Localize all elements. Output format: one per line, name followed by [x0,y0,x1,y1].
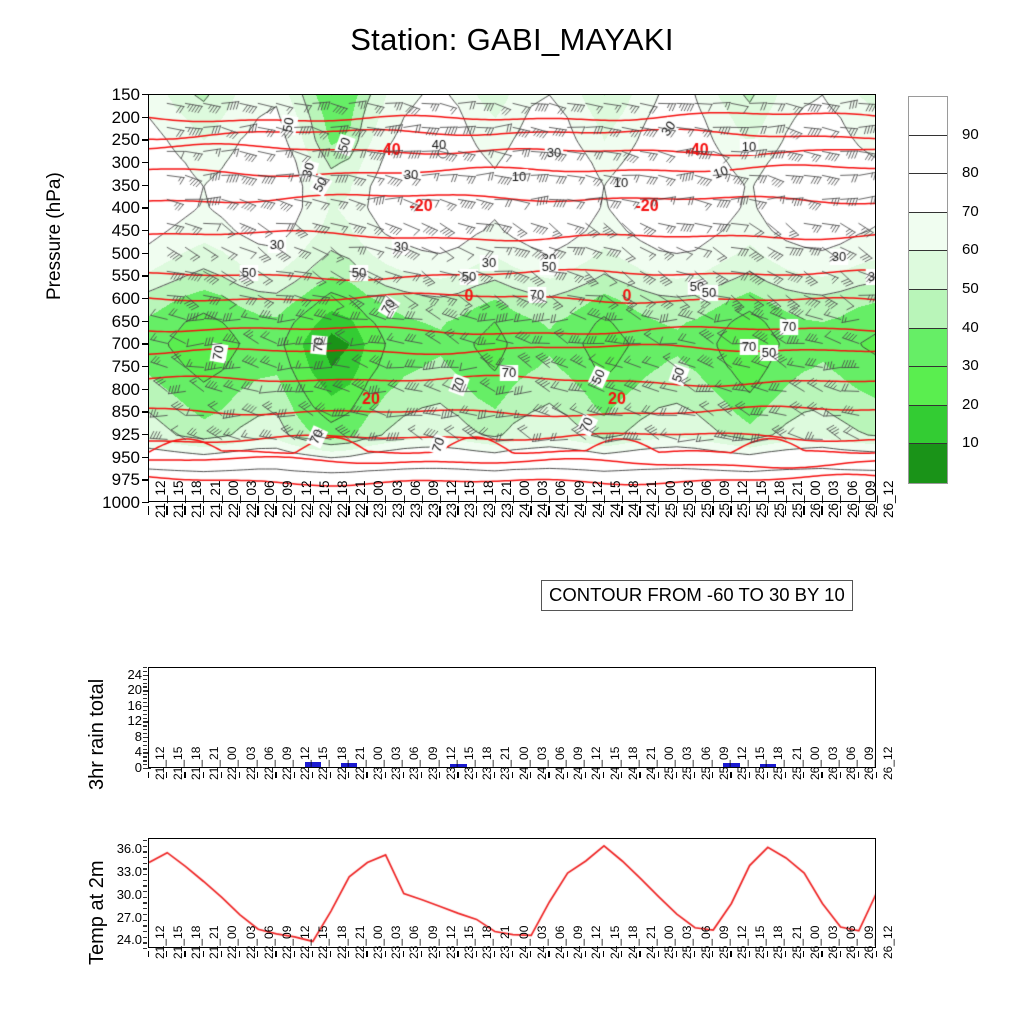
rain-time-label-23_06: 23_06 [407,747,421,780]
temp-time-label-22_21: 22_21 [353,926,367,959]
rain-tick-24: 24 [104,668,142,681]
contour-note: CONTOUR FROM -60 TO 30 BY 10 [541,580,853,611]
colorbar-label-60: 60 [962,242,979,257]
temp-time-label-22_00: 22_00 [225,926,239,959]
time-tickmark [730,506,731,515]
rain-minor-tickmark [143,760,147,761]
temp-time-tickmark [348,951,349,957]
time-tickmark [767,506,768,515]
rain-time-label-22_15: 22_15 [316,747,330,780]
rain-minor-tickmark [143,686,147,687]
temp-time-label-22_15: 22_15 [316,926,330,959]
pressure-tick-labels: 1502002503003504004505005506006507007508… [78,94,140,502]
rain-time-label-22_09: 22_09 [280,747,294,780]
temp-time-tickmark [275,951,276,957]
rain-time-tickmark [221,772,222,778]
time-tickmark [876,506,877,515]
rain-time-label-23_21: 23_21 [498,747,512,780]
temp-time-label-24_09: 24_09 [571,926,585,959]
time-tickmark [621,506,622,515]
rain-tick-8: 8 [104,730,142,743]
time-tickmark [330,506,331,515]
temp-time-axis: 21_1221_1521_1821_2122_0022_0322_0622_09… [148,951,876,1011]
temp-time-tickmark [821,951,822,957]
temp-time-tickmark [658,951,659,957]
temp-tickmark [143,902,147,903]
rain-time-tickmark [403,772,404,778]
temp-time-tickmark [148,951,149,957]
rain-time-label-21_18: 21_18 [189,747,203,780]
rain-minor-tickmark [143,749,147,750]
time-tickmark [603,506,604,515]
temp-time-tickmark [439,951,440,957]
temp-time-label-26_09: 26_09 [862,926,876,959]
rain-time-tickmark [184,772,185,778]
pressure-tick-200: 200 [80,109,140,126]
temp-time-tickmark [858,951,859,957]
rain-time-tickmark [767,772,768,778]
temp-tickmark [143,925,147,926]
temp-tickmark [143,857,147,858]
temp-time-tickmark [676,951,677,957]
pressure-tick-650: 650 [80,313,140,330]
temp-time-tickmark [330,951,331,957]
rain-time-tickmark [639,772,640,778]
temp-time-tickmark [166,951,167,957]
time-tickmark [421,506,422,515]
rain-time-tickmark [730,772,731,778]
temp-time-label-24_12: 24_12 [589,926,603,959]
temp-time-tickmark [840,951,841,957]
rain-minor-tickmark [143,671,147,672]
temp-tickmark [143,851,147,852]
pressure-tick-600: 600 [80,290,140,307]
rain-tick-0: 0 [104,761,142,774]
temp-time-tickmark [366,951,367,957]
temp-time-tickmark [203,951,204,957]
temp-tickmark [143,942,147,943]
temp-tickmark [143,920,147,921]
temp-time-label-25_18: 25_18 [771,926,785,959]
temp-time-label-21_15: 21_15 [171,926,185,959]
time-tickmark [585,506,586,515]
temp-time-tickmark [639,951,640,957]
rain-time-tickmark [821,772,822,778]
rain-time-tickmark [366,772,367,778]
temp-time-tickmark [457,951,458,957]
temp-time-label-22_06: 22_06 [262,926,276,959]
temp-time-label-25_12: 25_12 [735,926,749,959]
rain-time-tickmark [803,772,804,778]
rain-time-label-26_12: 26_12 [881,747,895,780]
temp-time-label-25_03: 25_03 [680,926,694,959]
temp-tickmark [143,840,147,841]
rain-time-label-21_15: 21_15 [171,747,185,780]
rain-time-tickmark [603,772,604,778]
temp-time-tickmark [749,951,750,957]
rain-time-label-26_06: 26_06 [844,747,858,780]
rain-time-tickmark [275,772,276,778]
colorbar-band-9 [909,444,947,483]
temp-time-tickmark [803,951,804,957]
time-tickmark [676,506,677,515]
time-tickmark [403,506,404,515]
rain-time-label-26_00: 26_00 [808,747,822,780]
time-tickmark [694,506,695,515]
rain-time-tickmark [166,772,167,778]
rain-time-label-24_09: 24_09 [571,747,585,780]
temp-time-label-24_15: 24_15 [608,926,622,959]
temp-tick-36.0: 36.0 [98,842,142,855]
colorbar-band-1 [909,136,947,175]
colorbar-label-30: 30 [962,358,979,373]
temp-time-label-23_21: 23_21 [498,926,512,959]
temp-time-tickmark [767,951,768,957]
temp-time-label-21_12: 21_12 [153,926,167,959]
rain-tick-20: 20 [104,683,142,696]
temp-time-label-24_00: 24_00 [517,926,531,959]
rain-time-label-23_18: 23_18 [480,747,494,780]
rain-time-label-21_21: 21_21 [207,747,221,780]
temp-tickmark [143,880,147,881]
rain-time-label-22_06: 22_06 [262,747,276,780]
temp-time-label-26_00: 26_00 [808,926,822,959]
temp-time-tickmark [876,951,877,957]
rain-time-label-26_03: 26_03 [826,747,840,780]
rain-tick-labels: 24201612840 [104,660,142,775]
pressure-tick-500: 500 [80,245,140,262]
temp-tick-30.0: 30.0 [98,888,142,901]
temp-time-tickmark [621,951,622,957]
rain-time-tickmark [548,772,549,778]
temp-time-tickmark [494,951,495,957]
time-tickmark [658,506,659,515]
temp-time-label-26_03: 26_03 [826,926,840,959]
temp-time-label-25_09: 25_09 [717,926,731,959]
rain-time-label-25_09: 25_09 [717,747,731,780]
rain-minor-tickmark [143,694,147,695]
temp-tickmark [143,914,147,915]
rain-time-label-25_15: 25_15 [753,747,767,780]
temp-time-tickmark [603,951,604,957]
time-tickmark [166,506,167,515]
rain-minor-tickmark [143,718,147,719]
temp-time-label-23_00: 23_00 [371,926,385,959]
rain-time-tickmark [712,772,713,778]
time-tickmark [457,506,458,515]
temp-time-tickmark [239,951,240,957]
temp-time-label-25_00: 25_00 [662,926,676,959]
temp-tickmark [143,937,147,938]
rain-minor-tickmark [143,679,147,680]
temp-time-tickmark [548,951,549,957]
temp-time-label-23_06: 23_06 [407,926,421,959]
temp-tickmark [143,863,147,864]
time-tickmark [294,506,295,515]
temp-time-tickmark [712,951,713,957]
pressure-tick-350: 350 [80,177,140,194]
time-tickmark [821,506,822,515]
colorbar-label-10: 10 [962,435,979,450]
temp-time-label-25_21: 25_21 [790,926,804,959]
rain-time-label-24_03: 24_03 [535,747,549,780]
rain-time-tickmark [676,772,677,778]
rain-time-label-23_15: 23_15 [462,747,476,780]
time-label-26_12: 26_12 [881,480,896,518]
temp-time-label-24_21: 24_21 [644,926,658,959]
rain-time-label-25_00: 25_00 [662,747,676,780]
rain-time-tickmark [858,772,859,778]
rain-time-tickmark [476,772,477,778]
temp-time-tickmark [785,951,786,957]
rain-time-tickmark [203,772,204,778]
page-title: Station: GABI_MAYAKI [0,22,1024,58]
time-tickmark [512,506,513,515]
colorbar-label-40: 40 [962,320,979,335]
temp-time-label-22_12: 22_12 [298,926,312,959]
temp-tickmark [143,874,147,875]
colorbar-band-8 [909,406,947,445]
rain-time-tickmark [494,772,495,778]
pressure-tick-950: 950 [80,449,140,466]
rain-time-tickmark [421,772,422,778]
temp-time-tickmark [730,951,731,957]
time-tickmark [148,506,149,515]
temp-time-tickmark [184,951,185,957]
temp-time-tickmark [585,951,586,957]
time-tickmark [639,506,640,515]
rain-time-label-24_18: 24_18 [626,747,640,780]
time-tickmark [803,506,804,515]
rain-time-tickmark [312,772,313,778]
rain-time-label-23_00: 23_00 [371,747,385,780]
time-tickmark [785,506,786,515]
temp-tickmark [143,891,147,892]
rain-time-tickmark [749,772,750,778]
rain-time-tickmark [439,772,440,778]
rain-time-axis: 21_1221_1521_1821_2122_0022_0322_0622_09… [148,772,876,830]
rain-time-tickmark [785,772,786,778]
pressure-tick-800: 800 [80,381,140,398]
rain-time-label-23_03: 23_03 [389,747,403,780]
wind-barb-layer [149,95,876,502]
temp-time-tickmark [530,951,531,957]
temp-time-label-22_09: 22_09 [280,926,294,959]
rain-time-tickmark [348,772,349,778]
rain-minor-tickmark [143,768,151,769]
time-tickmark [858,506,859,515]
pressure-tick-300: 300 [80,154,140,171]
time-tickmark [275,506,276,515]
temp-time-tickmark [476,951,477,957]
rain-minor-tickmark [143,764,147,765]
temp-time-tickmark [512,951,513,957]
colorbar-band-0 [909,97,947,136]
time-tickmark [312,506,313,515]
rain-minor-tickmark [143,698,147,699]
pressure-tickmark [142,502,149,503]
temp-time-tickmark [385,951,386,957]
time-tickmark [749,506,750,515]
time-tickmark [712,506,713,515]
temp-time-label-24_03: 24_03 [535,926,549,959]
temp-time-label-22_18: 22_18 [335,926,349,959]
rain-time-label-24_15: 24_15 [608,747,622,780]
pressure-tick-700: 700 [80,335,140,352]
rain-time-label-24_00: 24_00 [517,747,531,780]
rain-minor-tickmark [143,733,147,734]
temp-time-label-26_12: 26_12 [881,926,895,959]
rain-time-tickmark [530,772,531,778]
rain-time-tickmark [621,772,622,778]
rain-minor-tickmark [143,725,147,726]
colorbar-band-6 [909,329,947,368]
pressure-tick-750: 750 [80,358,140,375]
rain-time-label-22_18: 22_18 [335,747,349,780]
temp-tickmark [143,931,147,932]
colorbar-label-50: 50 [962,281,979,296]
rain-time-label-22_03: 22_03 [244,747,258,780]
temp-tickmark [143,908,147,909]
pressure-tick-250: 250 [80,131,140,148]
colorbar-band-7 [909,367,947,406]
rain-minor-tickmark [143,745,147,746]
temp-time-label-23_09: 23_09 [426,926,440,959]
temp-time-label-21_18: 21_18 [189,926,203,959]
pressure-tick-550: 550 [80,267,140,284]
temp-time-label-25_15: 25_15 [753,926,767,959]
rain-time-tickmark [294,772,295,778]
temp-tick-24.0: 24.0 [98,933,142,946]
rain-tick-12: 12 [104,714,142,727]
rain-time-tickmark [385,772,386,778]
temp-time-tickmark [421,951,422,957]
rain-time-label-25_06: 25_06 [699,747,713,780]
time-tickmark [530,506,531,515]
humidity-colorbar [908,96,948,484]
rain-time-label-23_09: 23_09 [426,747,440,780]
colorbar-band-5 [909,290,947,329]
colorbar-band-2 [909,174,947,213]
colorbar-band-3 [909,213,947,252]
pressure-tick-450: 450 [80,222,140,239]
temp-tickmark [143,868,147,869]
rain-minor-tickmark [143,683,147,684]
time-tickmark [257,506,258,515]
time-tickmark [548,506,549,515]
rain-tick-4: 4 [104,745,142,758]
time-tickmark [366,506,367,515]
rain-time-tickmark [694,772,695,778]
rain-minor-tickmark [143,710,147,711]
rain-minor-tickmark [143,702,147,703]
temp-tick-27.0: 27.0 [98,911,142,924]
colorbar-label-90: 90 [962,127,979,142]
time-tickmark [348,506,349,515]
rain-time-label-23_12: 23_12 [444,747,458,780]
time-tickmark [203,506,204,515]
rain-time-label-25_18: 25_18 [771,747,785,780]
rain-time-tickmark [148,772,149,778]
rain-time-label-24_06: 24_06 [553,747,567,780]
temp-time-tickmark [567,951,568,957]
temp-time-tickmark [294,951,295,957]
rain-time-tickmark [658,772,659,778]
rain-time-tickmark [457,772,458,778]
rain-minor-tickmark [143,667,147,668]
time-tickmark [840,506,841,515]
rain-tick-16: 16 [104,699,142,712]
rain-time-tickmark [876,772,877,778]
rain-time-tickmark [257,772,258,778]
rain-time-label-25_21: 25_21 [790,747,804,780]
temp-tickmark [143,885,147,886]
rain-time-label-24_12: 24_12 [589,747,603,780]
temp-time-tickmark [312,951,313,957]
rain-time-tickmark [512,772,513,778]
rain-minor-tickmark [143,714,147,715]
main-time-axis: 21_1221_1521_1821_2122_0022_0322_0622_09… [148,506,876,576]
temp-tickmark [143,846,147,847]
rain-time-label-25_03: 25_03 [680,747,694,780]
temp-time-label-22_03: 22_03 [244,926,258,959]
temp-tickmark [143,948,147,949]
rain-minor-tickmark [143,741,147,742]
pressure-tick-400: 400 [80,199,140,216]
rain-time-label-21_12: 21_12 [153,747,167,780]
temp-time-label-21_21: 21_21 [207,926,221,959]
temp-time-label-24_18: 24_18 [626,926,640,959]
pressure-tick-1000: 1000 [80,494,140,511]
rain-minor-tickmark [143,729,147,730]
time-tickmark [494,506,495,515]
pressure-axis-label: Pressure (hPa) [44,172,66,300]
rain-time-label-24_21: 24_21 [644,747,658,780]
rain-time-label-25_12: 25_12 [735,747,749,780]
time-tickmark [385,506,386,515]
time-tickmark [476,506,477,515]
pressure-tick-975: 975 [80,471,140,488]
rain-time-label-22_21: 22_21 [353,747,367,780]
colorbar-label-20: 20 [962,397,979,412]
colorbar-label-80: 80 [962,165,979,180]
time-tickmark [239,506,240,515]
rain-minor-tickmark [143,756,147,757]
temp-time-tickmark [257,951,258,957]
rain-time-tickmark [239,772,240,778]
rain-time-tickmark [567,772,568,778]
colorbar-band-4 [909,251,947,290]
time-tickmark [567,506,568,515]
time-tickmark [221,506,222,515]
rain-time-tickmark [840,772,841,778]
pressure-tick-850: 850 [80,403,140,420]
rain-time-label-26_09: 26_09 [862,747,876,780]
temp-time-label-23_18: 23_18 [480,926,494,959]
rain-time-label-22_00: 22_00 [225,747,239,780]
temp-time-tickmark [403,951,404,957]
temp-time-label-25_06: 25_06 [699,926,713,959]
temp-time-label-24_06: 24_06 [553,926,567,959]
temp-time-label-23_03: 23_03 [389,926,403,959]
temp-time-label-23_12: 23_12 [444,926,458,959]
rain-time-tickmark [585,772,586,778]
temp-tickmark [143,897,147,898]
rain-time-label-22_12: 22_12 [298,747,312,780]
temp-time-tickmark [221,951,222,957]
pressure-tick-150: 150 [80,86,140,103]
time-height-humidity-plot[interactable] [148,94,876,502]
